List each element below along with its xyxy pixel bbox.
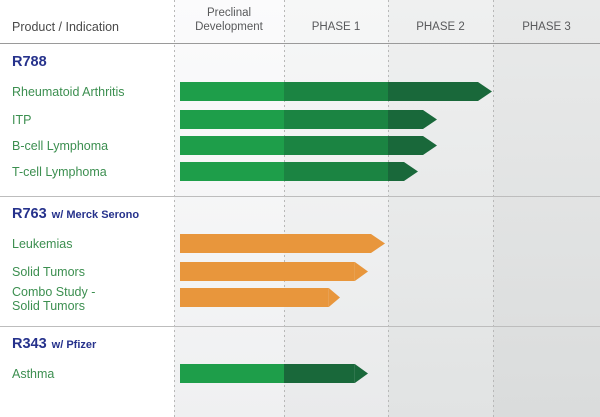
phase-column-phase2 bbox=[388, 0, 493, 417]
bar-segment bbox=[180, 136, 284, 155]
indication-label-R788-3: T-cell Lymphoma bbox=[12, 165, 107, 179]
bar-R763-0 bbox=[180, 234, 385, 253]
bar-R763-1 bbox=[180, 262, 368, 281]
product-partner-R763: w/ Merck Serono bbox=[51, 209, 140, 221]
indication-label-R788-2: B-cell Lymphoma bbox=[12, 139, 108, 153]
bar-R343-0 bbox=[180, 364, 368, 383]
indication-label-R763-1: Solid Tumors bbox=[12, 265, 85, 279]
column-header-preclinical: Development bbox=[195, 21, 264, 33]
indication-label-R763-0: Leukemias bbox=[12, 237, 72, 251]
bar-segment bbox=[388, 136, 423, 155]
bar-segment bbox=[180, 262, 355, 281]
indication-label-R763-2: Solid Tumors bbox=[12, 299, 85, 313]
bar-segment bbox=[284, 110, 388, 129]
bar-segment bbox=[388, 162, 404, 181]
product-title-R788: R788 bbox=[12, 54, 47, 70]
column-header-phase1: PHASE 1 bbox=[312, 21, 361, 33]
pipeline-chart-canvas: PreclinalDevelopmentPHASE 1PHASE 2PHASE … bbox=[0, 0, 600, 417]
product-name-R788: R788 bbox=[12, 54, 47, 70]
bar-segment bbox=[180, 162, 284, 181]
bar-R763-2 bbox=[180, 288, 340, 307]
bar-segment bbox=[180, 234, 371, 253]
bar-R788-1 bbox=[180, 110, 437, 129]
bar-R788-3 bbox=[180, 162, 418, 181]
bar-segment bbox=[284, 136, 388, 155]
bar-segment bbox=[284, 364, 355, 383]
bar-segment bbox=[180, 110, 284, 129]
bar-R788-2 bbox=[180, 136, 437, 155]
bar-segment bbox=[180, 82, 284, 101]
phase-column-phase3 bbox=[493, 0, 600, 417]
header-row-label: Product / Indication bbox=[12, 20, 119, 34]
bar-segment bbox=[180, 364, 284, 383]
product-title-R763: R763w/ Merck Serono bbox=[12, 206, 139, 222]
phase-column-preclinical bbox=[174, 0, 284, 417]
bar-R788-0 bbox=[180, 82, 492, 101]
bar-segment bbox=[180, 288, 329, 307]
bar-segment bbox=[284, 162, 388, 181]
product-title-R343: R343w/ Pfizer bbox=[12, 336, 97, 352]
product-name-R763: R763 bbox=[12, 206, 47, 222]
product-partner-R343: w/ Pfizer bbox=[51, 339, 97, 351]
bar-segment bbox=[284, 82, 388, 101]
column-header-phase2: PHASE 2 bbox=[416, 21, 465, 33]
indication-label-R343-0: Asthma bbox=[12, 367, 54, 381]
indication-label-R763-2: Combo Study - bbox=[12, 285, 95, 299]
bar-segment bbox=[388, 110, 423, 129]
pipeline-chart: PreclinalDevelopmentPHASE 1PHASE 2PHASE … bbox=[0, 0, 600, 417]
column-header-phase3: PHASE 3 bbox=[522, 21, 571, 33]
indication-label-R788-1: ITP bbox=[12, 113, 31, 127]
phase-column-phase1 bbox=[284, 0, 388, 417]
phase-column-bands bbox=[174, 0, 600, 417]
product-name-R343: R343 bbox=[12, 336, 47, 352]
bar-segment bbox=[388, 82, 478, 101]
indication-label-R788-0: Rheumatoid Arthritis bbox=[12, 85, 125, 99]
column-header-preclinical: Preclinal bbox=[207, 7, 251, 19]
